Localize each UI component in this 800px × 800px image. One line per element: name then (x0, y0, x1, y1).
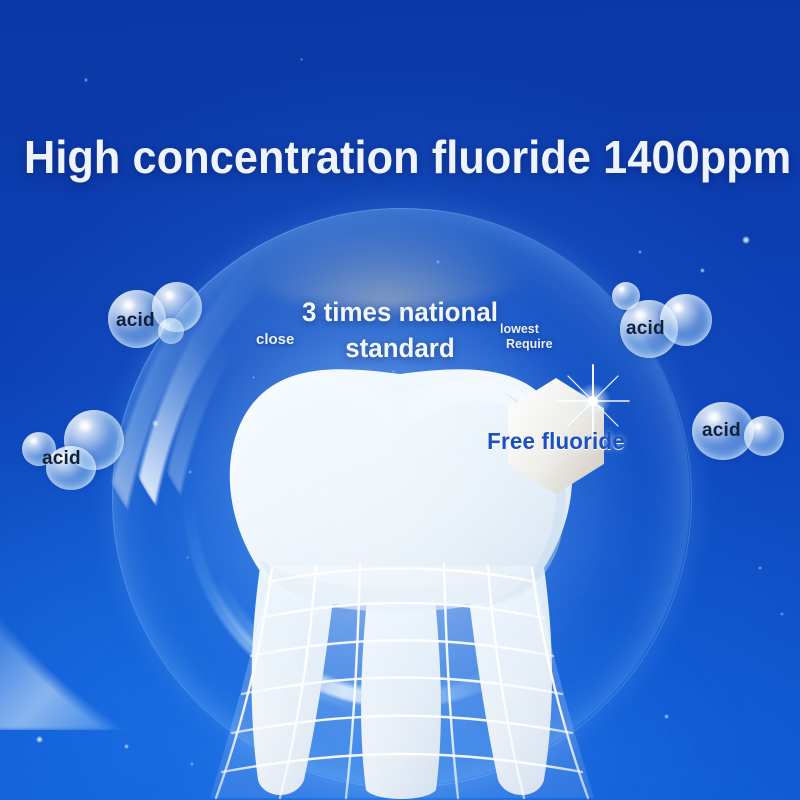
sparkle-dot (742, 236, 750, 244)
lowest-require-label: lowest Require (500, 322, 570, 352)
acid-label: acid (702, 420, 741, 442)
free-fluoride-label: Free fluoride (473, 428, 640, 455)
bubble (744, 416, 784, 456)
page-title: High concentration fluoride 1400ppm (24, 130, 776, 184)
sparkle-dot (300, 58, 303, 61)
sparkle-dot (700, 268, 705, 273)
acid-cluster-top-right: acid (612, 282, 722, 362)
star-sparkle-icon (556, 364, 630, 438)
acid-cluster-top-left: acid (108, 282, 212, 360)
acid-cluster-mid-right: acid (692, 402, 796, 474)
sparkle-dot (84, 78, 88, 82)
sparkle-dot (758, 566, 762, 570)
close-label: close (256, 331, 294, 348)
lowest-line-1: lowest (500, 322, 539, 336)
acid-label: acid (116, 310, 155, 332)
bubble (158, 318, 184, 344)
claim-text: 3 times national standard (270, 294, 529, 366)
sparkle-dot (780, 612, 784, 616)
claim-line-2: standard (270, 330, 529, 366)
claim-line-1: 3 times national (302, 297, 498, 327)
acid-label: acid (42, 448, 81, 470)
acid-cluster-mid-left: acid (22, 410, 132, 490)
bubble (660, 294, 712, 346)
poster-canvas: acid acid acid acid High concentration f… (0, 0, 800, 800)
sparkle-dot (638, 250, 642, 254)
bubble (612, 282, 640, 310)
acid-label: acid (626, 318, 665, 340)
sparkle-dot (36, 736, 43, 743)
lowest-line-2: Require (500, 337, 570, 352)
